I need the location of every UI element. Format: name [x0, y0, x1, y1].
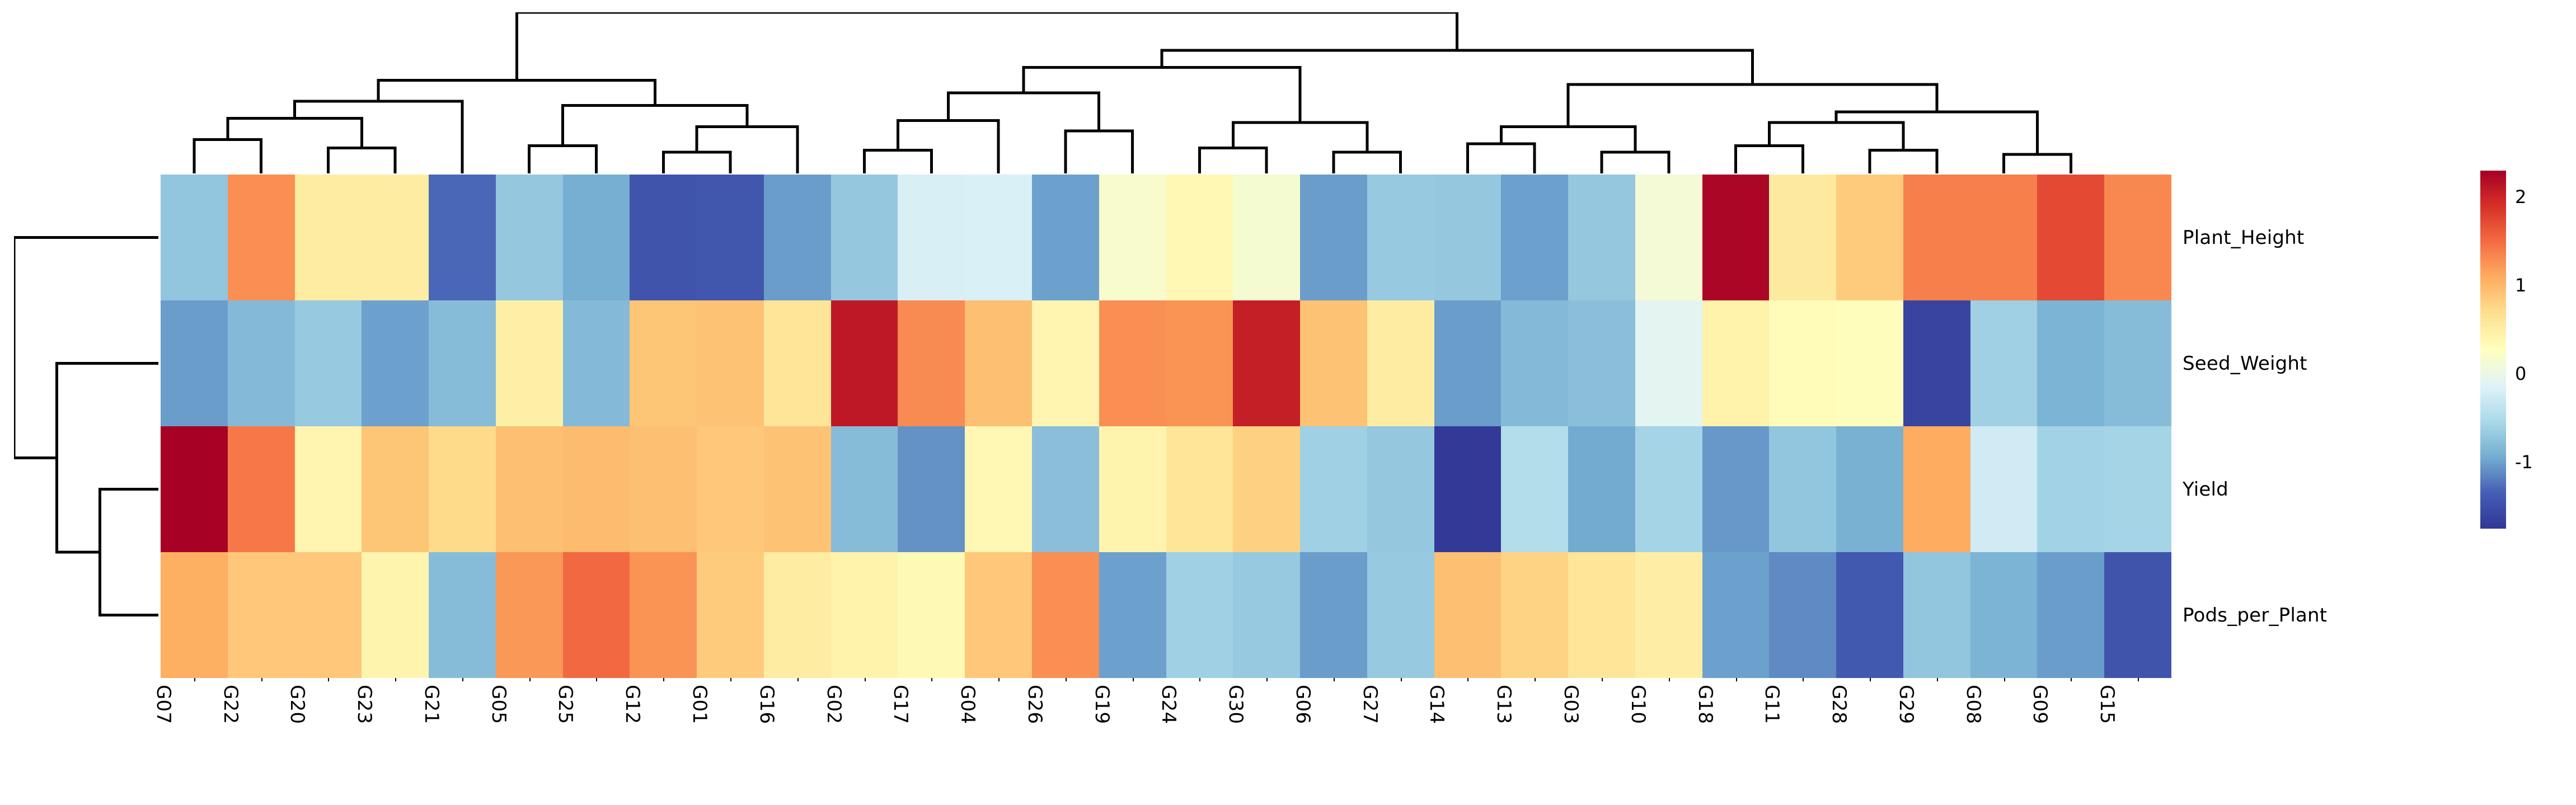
dendrogram-link: [1870, 150, 1937, 173]
heatmap-cell[interactable]: [1769, 300, 1836, 426]
column-dendrogram: [161, 12, 2171, 173]
heatmap-cell[interactable]: [295, 175, 362, 300]
dendrogram-link: [1199, 148, 1266, 173]
heatmap-cell[interactable]: [1568, 426, 1635, 552]
column-label-0: G07: [152, 685, 175, 724]
heatmap-cell[interactable]: [1903, 426, 1970, 552]
heatmap-cell[interactable]: [1233, 300, 1300, 426]
heatmap-cell[interactable]: [496, 175, 563, 300]
column-label-cell: G17: [898, 681, 965, 799]
column-label-cell: G11: [1769, 681, 1836, 799]
heatmap-cell[interactable]: [228, 175, 295, 300]
heatmap-cell[interactable]: [1166, 552, 1233, 678]
column-tick-mark: [529, 678, 531, 681]
column-tick-mark: [1467, 678, 1468, 681]
heatmap-cell[interactable]: [1501, 552, 1568, 678]
column-label-cell: G01: [697, 681, 764, 799]
heatmap-cell[interactable]: [1970, 426, 2038, 552]
heatmap-cell[interactable]: [1568, 175, 1635, 300]
column-label-10: G02: [822, 685, 844, 724]
column-tick-mark: [1669, 678, 1670, 681]
column-label-cell: G14: [1434, 681, 1502, 799]
column-tick-mark: [462, 678, 463, 681]
column-tick-mark: [1199, 678, 1200, 681]
heatmap-cell[interactable]: [1702, 175, 1770, 300]
heatmap-cell[interactable]: [898, 175, 965, 300]
heatmap-cell[interactable]: [1970, 175, 2038, 300]
column-label-18: G27: [1359, 685, 1381, 724]
heatmap-cell[interactable]: [2104, 300, 2171, 426]
dendrogram-link: [517, 12, 1457, 80]
column-label-23: G18: [1693, 685, 1716, 724]
dendrogram-link: [1024, 68, 1300, 123]
column-label-21: G03: [1560, 685, 1582, 724]
heatmap-cell[interactable]: [965, 426, 1032, 552]
heatmap-cell[interactable]: [764, 300, 831, 426]
column-label-cell: G10: [1635, 681, 1702, 799]
heatmap-cell[interactable]: [1032, 175, 1099, 300]
column-label-axis: G07G22G20G23G21G05G25G12G01G16G02G17G04G…: [161, 681, 2171, 799]
column-label-17: G06: [1292, 685, 1314, 724]
heatmap-cell[interactable]: [1970, 300, 2038, 426]
heatmap-cell[interactable]: [1836, 552, 1903, 678]
heatmap-cell[interactable]: [1903, 552, 1970, 678]
dendrogram-link: [194, 139, 261, 173]
dendrogram-link: [1066, 131, 1133, 173]
heatmap-cell[interactable]: [228, 300, 295, 426]
heatmap-cell[interactable]: [1434, 426, 1502, 552]
heatmap-cell[interactable]: [1367, 300, 1434, 426]
heatmap-cell[interactable]: [697, 426, 764, 552]
heatmap-cell[interactable]: [161, 552, 228, 678]
column-label-13: G26: [1024, 685, 1046, 724]
colorbar-tick-label-3: -1: [2515, 451, 2533, 473]
column-tick-mark: [1803, 678, 1804, 681]
row-label-3: Pods_per_Plant: [2183, 552, 2451, 678]
heatmap-cell[interactable]: [630, 300, 697, 426]
heatmap-cell[interactable]: [2037, 300, 2104, 426]
heatmap-cell[interactable]: [1434, 552, 1502, 678]
row-label-0: Plant_Height: [2183, 175, 2451, 300]
colorbar: 210-1: [2480, 171, 2570, 529]
colorbar-tick-label-1: 1: [2515, 275, 2526, 296]
dendrogram-link: [57, 364, 158, 553]
heatmap-cell[interactable]: [1501, 426, 1568, 552]
dendrogram-link: [1501, 127, 1635, 152]
column-label-cell: G04: [965, 681, 1032, 799]
column-label-cell: G13: [1501, 681, 1568, 799]
column-label-cell: G25: [563, 681, 630, 799]
column-tick-mark: [865, 678, 866, 681]
column-tick-mark: [194, 678, 195, 681]
heatmap-cell[interactable]: [831, 426, 898, 552]
column-label-26: G29: [1895, 685, 1917, 724]
heatmap-cell[interactable]: [1099, 552, 1166, 678]
column-label-7: G12: [621, 685, 644, 724]
heatmap-cell[interactable]: [2104, 552, 2171, 678]
heatmap-cell[interactable]: [2104, 175, 2171, 300]
heatmap-cell[interactable]: [697, 300, 764, 426]
heatmap-cell[interactable]: [965, 175, 1032, 300]
column-tick-mark: [596, 678, 597, 681]
column-tick-mark: [797, 678, 799, 681]
dendrogram-link: [865, 150, 932, 173]
column-label-cell: G28: [1836, 681, 1903, 799]
heatmap-cell[interactable]: [161, 426, 228, 552]
column-label-3: G23: [353, 685, 376, 724]
dendrogram-link: [529, 146, 597, 173]
heatmap-cell[interactable]: [429, 552, 496, 678]
heatmap-cell[interactable]: [1568, 552, 1635, 678]
heatmap-cell[interactable]: [965, 552, 1032, 678]
column-label-28: G09: [2029, 685, 2051, 724]
dendrogram-link: [1568, 84, 1937, 127]
heatmap-cell[interactable]: [362, 300, 429, 426]
heatmap-cell[interactable]: [161, 300, 228, 426]
row-label-axis: Plant_HeightSeed_WeightYieldPods_per_Pla…: [2183, 175, 2451, 678]
column-label-4: G21: [420, 685, 443, 724]
dendrogram-link: [1602, 152, 1669, 173]
dendrogram-link: [1334, 152, 1401, 173]
column-label-22: G10: [1627, 685, 1649, 724]
heatmap-cell[interactable]: [429, 300, 496, 426]
heatmap-cell[interactable]: [1769, 175, 1836, 300]
dendrogram-link: [295, 101, 462, 173]
heatmap-cell[interactable]: [1769, 552, 1836, 678]
column-label-25: G28: [1828, 685, 1850, 724]
heatmap-cell[interactable]: [697, 552, 764, 678]
column-label-cell: G08: [1970, 681, 2038, 799]
heatmap-cell[interactable]: [1032, 426, 1099, 552]
heatmap-cell[interactable]: [898, 552, 965, 678]
heatmap-cell[interactable]: [1903, 300, 1970, 426]
heatmap-cell[interactable]: [1702, 300, 1770, 426]
column-label-cell: G29: [1903, 681, 1970, 799]
heatmap-cell[interactable]: [1836, 175, 1903, 300]
heatmap-cell[interactable]: [1568, 300, 1635, 426]
heatmap-cell[interactable]: [1635, 175, 1702, 300]
heatmap-cell[interactable]: [1032, 300, 1099, 426]
heatmap-cell[interactable]: [295, 552, 362, 678]
heatmap-cell[interactable]: [630, 552, 697, 678]
column-label-cell: G15: [2104, 681, 2171, 799]
column-tick-mark: [2071, 678, 2072, 681]
heatmap-cell[interactable]: [1635, 426, 1702, 552]
heatmap-cell[interactable]: [1970, 552, 2038, 678]
heatmap-cell[interactable]: [563, 300, 630, 426]
heatmap-cell[interactable]: [563, 552, 630, 678]
heatmap-cell[interactable]: [429, 426, 496, 552]
heatmap-cell[interactable]: [1233, 426, 1300, 552]
column-tick-mark: [1602, 678, 1603, 681]
heatmap-cell[interactable]: [1099, 426, 1166, 552]
column-label-24: G11: [1761, 685, 1783, 724]
heatmap-cell[interactable]: [1434, 300, 1502, 426]
heatmap-cell[interactable]: [2037, 175, 2104, 300]
column-label-cell: G19: [1099, 681, 1166, 799]
column-tick-mark: [1736, 678, 1737, 681]
heatmap-cell[interactable]: [630, 175, 697, 300]
column-label-19: G14: [1425, 685, 1448, 724]
column-tick-mark: [1870, 678, 1871, 681]
heatmap-cell[interactable]: [764, 552, 831, 678]
heatmap-cell[interactable]: [1501, 175, 1568, 300]
heatmap-cell[interactable]: [1635, 552, 1702, 678]
column-tick-mark: [1266, 678, 1268, 681]
column-tick-mark: [931, 678, 932, 681]
column-label-cell: G06: [1300, 681, 1367, 799]
column-tick-mark: [2004, 678, 2005, 681]
column-label-2: G20: [286, 685, 308, 724]
heatmap-cell[interactable]: [1367, 175, 1434, 300]
dendrogram-link: [1736, 146, 1803, 173]
column-label-cell: G07: [161, 681, 228, 799]
heatmap-cell[interactable]: [898, 300, 965, 426]
heatmap-cell[interactable]: [1501, 300, 1568, 426]
column-label-14: G19: [1091, 685, 1113, 724]
heatmap-cell[interactable]: [1836, 426, 1903, 552]
heatmap-cell[interactable]: [2037, 552, 2104, 678]
column-label-cell: G21: [429, 681, 496, 799]
heatmap-cell[interactable]: [1702, 552, 1770, 678]
column-label-27: G08: [1962, 685, 1984, 724]
heatmap-cell[interactable]: [1300, 300, 1367, 426]
column-tick-mark: [1066, 678, 1067, 681]
heatmap-cell[interactable]: [1300, 552, 1367, 678]
row-dendrogram: [14, 175, 158, 678]
dendrogram-link: [898, 120, 998, 173]
column-tick-mark: [1535, 678, 1536, 681]
dendrogram-link: [328, 148, 395, 173]
column-label-11: G17: [889, 685, 912, 724]
heatmap-cell[interactable]: [295, 426, 362, 552]
column-tick-mark: [261, 678, 262, 681]
heatmap-cell[interactable]: [831, 552, 898, 678]
heatmap-cell[interactable]: [1300, 426, 1367, 552]
column-label-5: G05: [487, 685, 510, 724]
dendrogram-link: [1467, 144, 1535, 173]
colorbar-gradient: [2480, 171, 2506, 529]
column-tick-mark: [328, 678, 329, 681]
heatmap-cell[interactable]: [563, 175, 630, 300]
heatmap-cell[interactable]: [228, 552, 295, 678]
column-label-cell: G30: [1233, 681, 1300, 799]
column-label-cell: G09: [2037, 681, 2104, 799]
heatmap-cell[interactable]: [1367, 552, 1434, 678]
heatmap-cell[interactable]: [831, 175, 898, 300]
heatmap-cell[interactable]: [1233, 175, 1300, 300]
heatmap-cell[interactable]: [2037, 426, 2104, 552]
column-tick-mark: [730, 678, 731, 681]
dendrogram-link: [14, 238, 158, 458]
clustermap-figure: Plant_HeightSeed_WeightYieldPods_per_Pla…: [0, 0, 2576, 805]
column-label-20: G13: [1493, 685, 1515, 724]
heatmap-cell[interactable]: [898, 426, 965, 552]
dendrogram-link: [2004, 154, 2071, 173]
column-label-1: G22: [219, 685, 242, 724]
heatmap-cell[interactable]: [295, 300, 362, 426]
dendrogram-link: [100, 489, 158, 615]
heatmap-cell[interactable]: [496, 426, 563, 552]
heatmap-cell[interactable]: [362, 426, 429, 552]
column-tick-mark: [1937, 678, 1938, 681]
heatmap-cell[interactable]: [1099, 300, 1166, 426]
heatmap-cell[interactable]: [161, 175, 228, 300]
colorbar-tick-label-0: 2: [2515, 186, 2526, 208]
column-label-cell: G05: [496, 681, 563, 799]
heatmap-cell[interactable]: [1769, 426, 1836, 552]
heatmap-cell[interactable]: [1166, 175, 1233, 300]
dendrogram-link: [697, 127, 797, 173]
heatmap-cell[interactable]: [496, 300, 563, 426]
heatmap-cell[interactable]: [1300, 175, 1367, 300]
column-label-cell: G22: [228, 681, 295, 799]
column-label-29: G15: [2096, 685, 2118, 724]
column-label-9: G16: [756, 685, 778, 724]
column-tick-mark: [395, 678, 396, 681]
column-tick-mark: [1334, 678, 1335, 681]
heatmap-cell[interactable]: [496, 552, 563, 678]
dendrogram-link: [948, 93, 1099, 131]
heatmap-cell[interactable]: [429, 175, 496, 300]
column-label-cell: G16: [764, 681, 831, 799]
heatmap-cell[interactable]: [362, 175, 429, 300]
column-label-cell: G26: [1032, 681, 1099, 799]
heatmap-cell[interactable]: [1367, 426, 1434, 552]
column-label-cell: G03: [1568, 681, 1635, 799]
dendrogram-link: [1836, 112, 2037, 154]
heatmap-cell[interactable]: [228, 426, 295, 552]
heatmap-cell[interactable]: [1836, 300, 1903, 426]
heatmap-cell[interactable]: [1903, 175, 1970, 300]
heatmap-cell[interactable]: [764, 426, 831, 552]
heatmap-cell[interactable]: [1099, 175, 1166, 300]
column-label-cell: G24: [1166, 681, 1233, 799]
column-tick-mark: [663, 678, 664, 681]
heatmap-cell[interactable]: [1434, 175, 1502, 300]
column-label-cell: G20: [295, 681, 362, 799]
heatmap-cell[interactable]: [630, 426, 697, 552]
heatmap-cell[interactable]: [764, 175, 831, 300]
heatmap-cell[interactable]: [1635, 300, 1702, 426]
heatmap-cell[interactable]: [697, 175, 764, 300]
column-label-15: G24: [1157, 685, 1180, 724]
column-label-16: G30: [1224, 685, 1247, 724]
dendrogram-link: [228, 118, 362, 148]
column-label-cell: G27: [1367, 681, 1434, 799]
column-tick-mark: [998, 678, 1000, 681]
dendrogram-link: [663, 152, 730, 173]
heatmap-cell[interactable]: [1032, 552, 1099, 678]
column-tick-mark: [2138, 678, 2139, 681]
column-tick-mark: [1133, 678, 1134, 681]
heatmap-cell[interactable]: [965, 300, 1032, 426]
column-tick-mark: [1401, 678, 1402, 681]
heatmap-cell[interactable]: [2104, 426, 2171, 552]
heatmap-grid[interactable]: [161, 175, 2171, 678]
column-label-12: G04: [956, 685, 979, 724]
column-label-cell: G23: [362, 681, 429, 799]
heatmap-cell[interactable]: [831, 300, 898, 426]
column-label-cell: G02: [831, 681, 898, 799]
column-label-cell: G12: [630, 681, 697, 799]
heatmap-cell[interactable]: [362, 552, 429, 678]
colorbar-tick-label-2: 0: [2515, 363, 2526, 384]
heatmap-cell[interactable]: [1702, 426, 1770, 552]
heatmap-cell[interactable]: [1166, 426, 1233, 552]
heatmap-cell[interactable]: [563, 426, 630, 552]
row-label-2: Yield: [2183, 426, 2451, 552]
column-label-6: G25: [554, 685, 576, 724]
heatmap-cell[interactable]: [1233, 552, 1300, 678]
column-label-cell: G18: [1702, 681, 1770, 799]
column-label-8: G01: [688, 685, 711, 724]
row-label-1: Seed_Weight: [2183, 300, 2451, 426]
heatmap-cell[interactable]: [1166, 300, 1233, 426]
